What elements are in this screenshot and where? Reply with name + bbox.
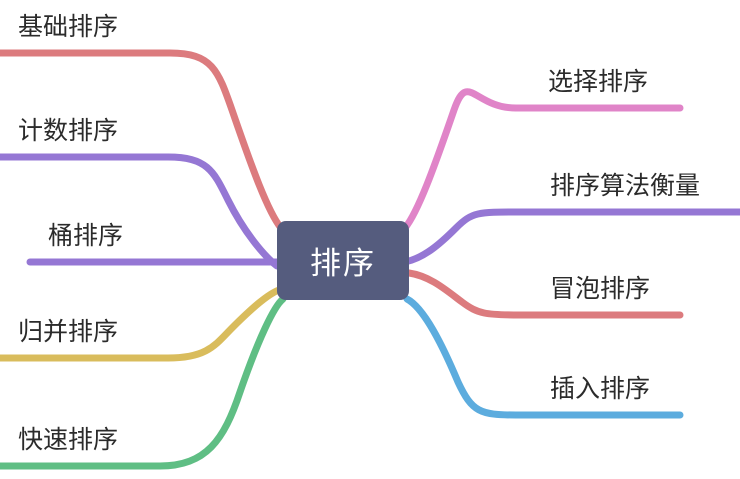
branch-line-sorting-metrics <box>405 212 740 262</box>
mind-map-canvas: 基础排序 计数排序 桶排序 归并排序 快速排序 选择排序 排序算法衡量 冒泡排序… <box>0 0 740 479</box>
node-label-bubble-sort[interactable]: 冒泡排序 <box>550 274 650 304</box>
center-node-label: 排序 <box>310 238 376 283</box>
node-label-sorting-metrics[interactable]: 排序算法衡量 <box>550 171 700 201</box>
node-label-selection-sort[interactable]: 选择排序 <box>548 67 648 97</box>
node-label-basic-sort[interactable]: 基础排序 <box>18 12 118 42</box>
branch-line-selection-sort <box>405 92 680 228</box>
node-label-counting-sort[interactable]: 计数排序 <box>18 116 118 146</box>
node-label-merge-sort[interactable]: 归并排序 <box>18 317 118 347</box>
center-node[interactable]: 排序 <box>277 221 409 300</box>
node-label-insertion-sort[interactable]: 插入排序 <box>550 374 650 404</box>
branch-line-counting-sort <box>0 157 277 266</box>
node-label-quick-sort[interactable]: 快速排序 <box>18 425 118 455</box>
node-label-bucket-sort[interactable]: 桶排序 <box>48 221 123 251</box>
